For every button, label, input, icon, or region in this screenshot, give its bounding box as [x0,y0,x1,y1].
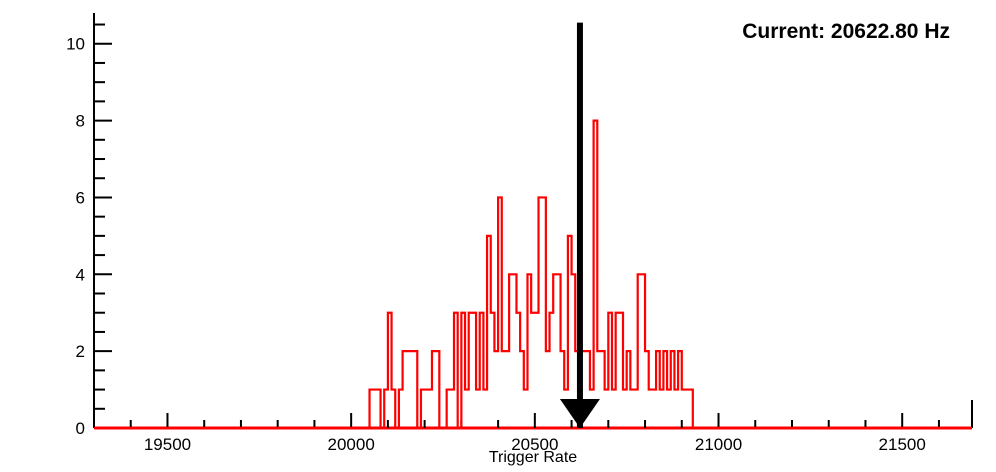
y-tick-label: 4 [76,265,85,284]
y-tick-label: 2 [76,342,85,361]
histogram-outline [94,121,972,428]
y-tick-label: 8 [76,112,85,131]
x-tick-label: 21000 [695,435,742,454]
y-axis-tick-labels: 0246810 [66,35,85,438]
y-tick-label: 6 [76,188,85,207]
histogram-series [94,121,972,428]
x-tick-label: 20000 [328,435,375,454]
current-value-label: Current: 20622.80 Hz [742,20,950,43]
trigger-rate-histogram: 0246810 1950020000205002100021500 Trigge… [0,0,996,472]
x-tick-label: 19500 [144,435,191,454]
x-axis-group: 1950020000205002100021500 Trigger Rate [94,400,972,466]
x-tick-label: 21500 [879,435,926,454]
root-canvas: 0246810 1950020000205002100021500 Trigge… [0,0,996,472]
y-tick-label: 0 [76,419,85,438]
y-axis-group: 0246810 [66,13,112,438]
x-axis-title: Trigger Rate [489,449,577,466]
current-marker-arrowhead [560,399,600,428]
y-tick-label: 10 [66,35,85,54]
